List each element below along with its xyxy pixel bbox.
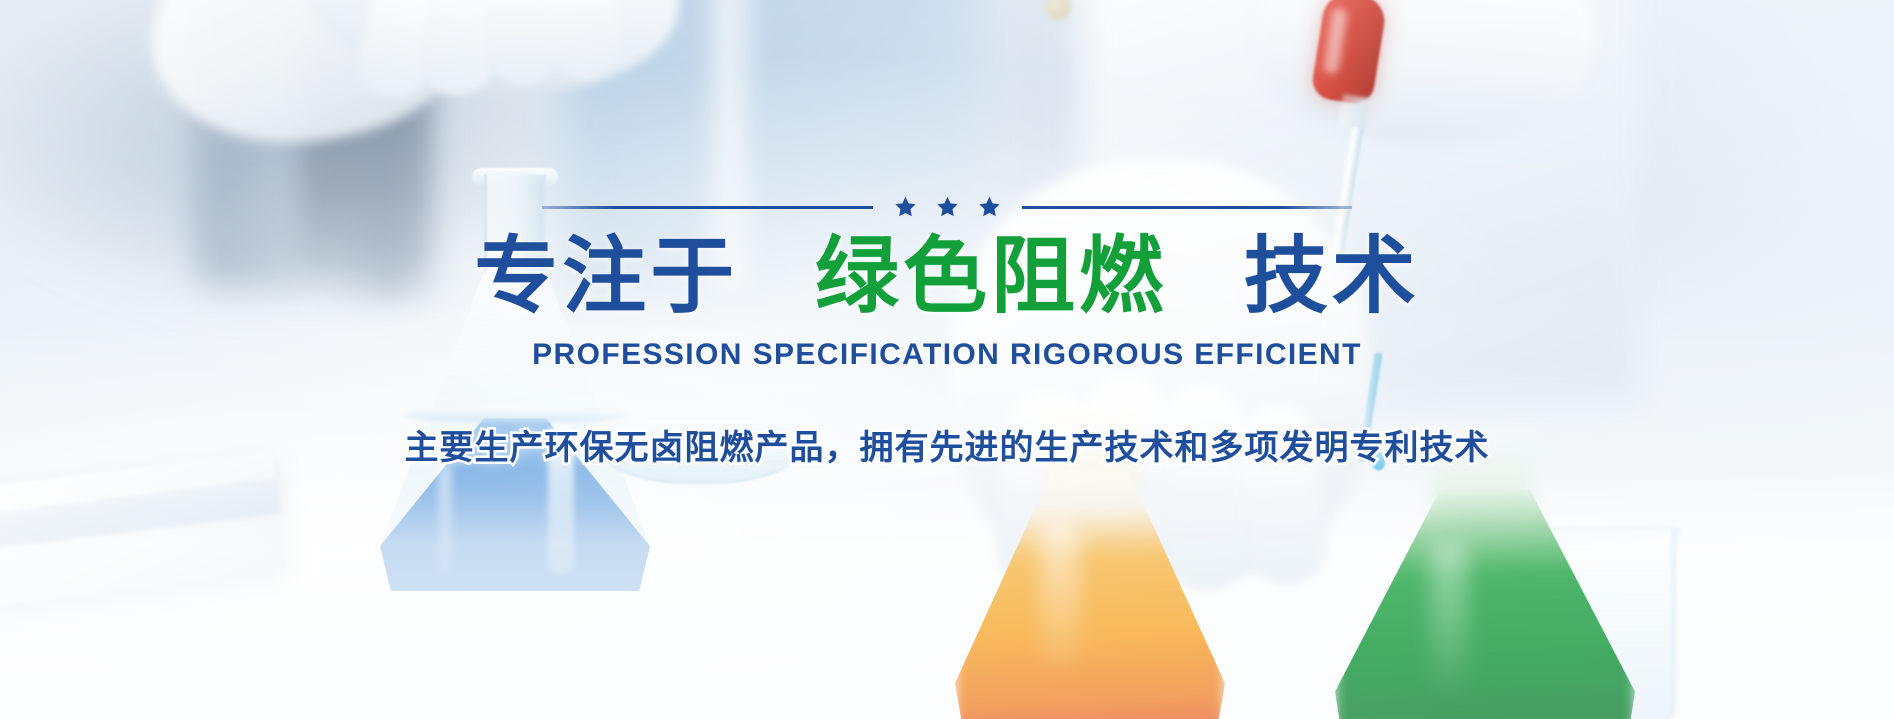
banner-content: 专注于 绿色阻燃 技术 PROFESSION SPECIFICATION RIG… (0, 0, 1894, 719)
headline-part-1: 专注于 (474, 229, 738, 323)
star-icon (935, 195, 960, 219)
subtitle-english: PROFESSION SPECIFICATION RIGOROUS EFFICI… (532, 338, 1362, 372)
headline-part-3: 技术 (1244, 229, 1420, 323)
hero-banner: 专注于 绿色阻燃 技术 PROFESSION SPECIFICATION RIG… (0, 0, 1894, 719)
divider-rule-left (542, 206, 873, 209)
star-icon (977, 195, 1002, 219)
star-icon (893, 195, 918, 219)
headline: 专注于 绿色阻燃 技术 (474, 231, 1419, 322)
decorative-divider (542, 195, 1352, 219)
star-group (889, 195, 1006, 219)
divider-rule-right (1022, 206, 1353, 209)
headline-part-2: 绿色阻燃 (815, 229, 1167, 323)
tagline: 主要生产环保无卤阻燃产品，拥有先进的生产技术和多项发明专利技术 (405, 420, 1490, 469)
